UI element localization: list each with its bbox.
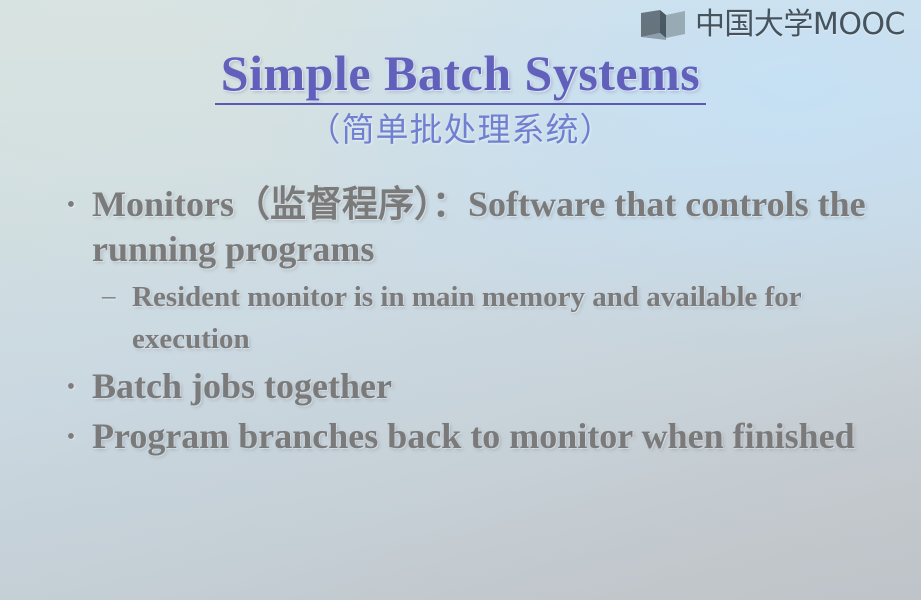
- page-subtitle-chinese: （简单批处理系统）: [0, 112, 921, 148]
- bullet-marker: •: [50, 414, 92, 460]
- list-item-text-part: Monitors: [92, 184, 234, 224]
- list-item-text: Batch jobs together: [92, 364, 392, 409]
- bullet-marker: •: [50, 364, 92, 410]
- open-book-icon: [640, 9, 686, 41]
- sub-list-item: – Resident monitor is in main memory and…: [102, 276, 890, 360]
- sub-list-item-text: Resident monitor is in main memory and a…: [132, 276, 890, 360]
- page-title: Simple Batch Systems: [215, 47, 706, 105]
- mooc-brand-text: 中国大学MOOC: [695, 10, 905, 40]
- title-block: Simple Batch Systems （简单批处理系统）: [0, 47, 921, 148]
- list-item: • Monitors（监督程序）：Software that controls …: [50, 182, 890, 272]
- bullet-marker: •: [50, 182, 92, 228]
- mooc-watermark: 中国大学MOOC: [640, 9, 905, 41]
- list-item-text-part-cjk: （监督程序）：: [234, 184, 468, 225]
- list-item: • Batch jobs together: [50, 364, 890, 410]
- list-item-text: Program branches back to monitor when fi…: [92, 414, 855, 459]
- list-item-text: Monitors（监督程序）：Software that controls th…: [92, 182, 890, 272]
- list-item: • Program branches back to monitor when …: [50, 414, 890, 460]
- bullet-list: • Monitors（监督程序）：Software that controls …: [50, 182, 890, 460]
- dash-marker: –: [102, 276, 132, 314]
- lecture-slide: 中国大学MOOC Simple Batch Systems （简单批处理系统） …: [0, 0, 921, 600]
